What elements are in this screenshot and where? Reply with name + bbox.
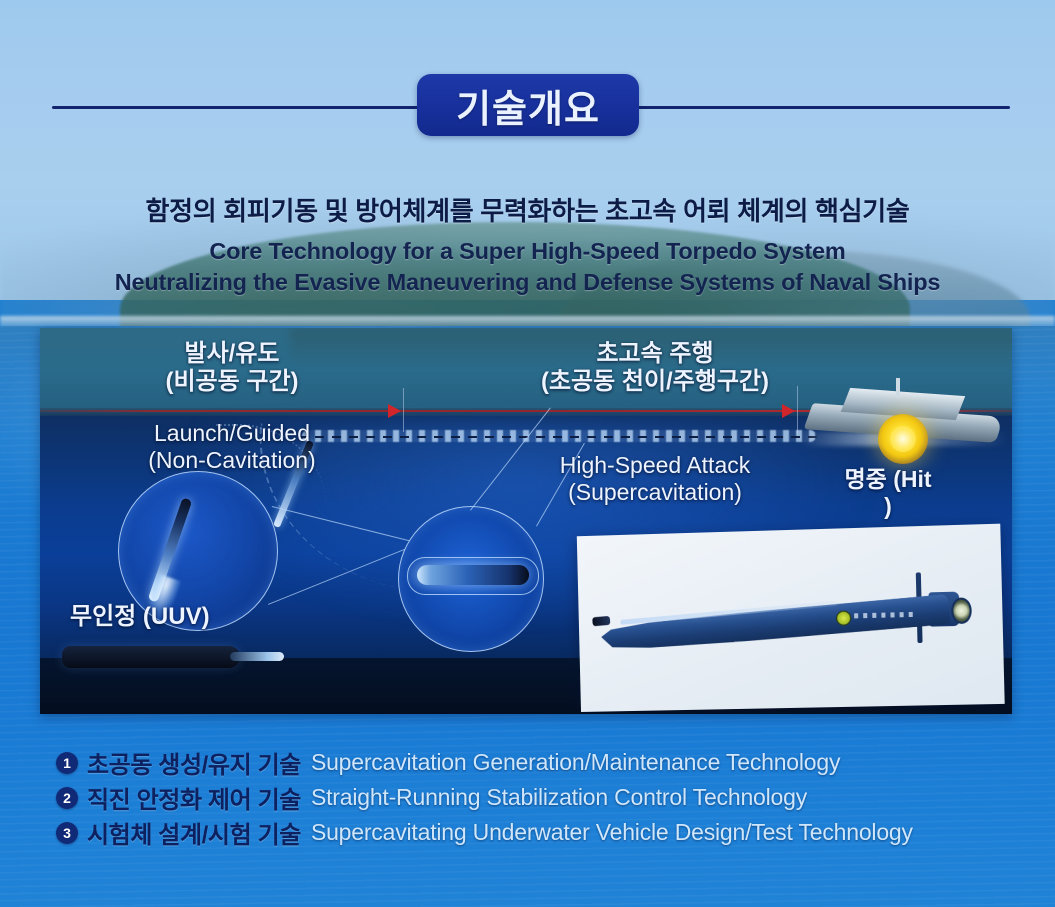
ship-mast: [896, 378, 900, 398]
phase-divider-tick: [403, 388, 404, 432]
uuv-vessel: [62, 646, 240, 668]
list-item-label-ko: 직진 안정화 제어 기술: [87, 780, 301, 815]
torpedo-render-inset: [577, 524, 1005, 712]
label-highspeed-en-line2: (Supercavitation): [500, 479, 810, 506]
list-item-label-ko: 시험체 설계/시험 기술: [87, 815, 301, 850]
label-hit-line1: 명중 (Hit: [838, 466, 938, 493]
label-launch-phase-ko: 발사/유도 (비공동 구간): [108, 340, 356, 396]
label-uuv: 무인정 (UUV): [70, 596, 270, 631]
label-highspeed-phase-ko: 초고속 주행 (초공동 천이/주행구간): [490, 340, 820, 396]
label-launch-ko-line2: (비공동 구간): [108, 368, 356, 396]
subtitle-line-2: Neutralizing the Evasive Maneuvering and…: [0, 269, 1055, 296]
torpedo-cavitator-nose: [592, 616, 610, 626]
trajectory-arrow-icon: [388, 404, 401, 418]
torpedo-propulsor: [951, 597, 972, 624]
run-dashed-path: [298, 436, 818, 438]
label-highspeed-phase-en: High-Speed Attack (Supercavitation): [500, 452, 810, 505]
torpedo-model: [600, 585, 966, 638]
list-item: 3 시험체 설계/시험 기술 Supercavitating Underwate…: [56, 815, 956, 850]
list-item-label-en: Supercavitating Underwater Vehicle Desig…: [311, 819, 913, 846]
subtitle-line-1: Core Technology for a Super High-Speed T…: [0, 238, 1055, 265]
label-launch-phase-en: Launch/Guided (Non-Cavitation): [98, 420, 366, 473]
list-number-badge: 2: [56, 787, 78, 809]
list-number-badge: 3: [56, 822, 78, 844]
label-hit-line2: ): [838, 493, 938, 520]
torpedo-hull: [600, 594, 950, 654]
list-item: 2 직진 안정화 제어 기술 Straight-Running Stabiliz…: [56, 780, 956, 815]
label-hit: 명중 (Hit ): [838, 466, 938, 519]
list-item-label-ko: 초공동 생성/유지 기술: [87, 745, 301, 780]
technology-list: 1 초공동 생성/유지 기술 Supercavitation Generatio…: [56, 745, 956, 850]
list-item-label-en: Straight-Running Stabilization Control T…: [311, 784, 807, 811]
list-number-badge: 1: [56, 752, 78, 774]
explosion-core: [890, 426, 916, 452]
title-badge: 기술개요: [417, 74, 639, 136]
label-launch-ko-line1: 발사/유도: [108, 340, 356, 368]
uuv-launched-torpedo: [230, 652, 284, 661]
list-item-label-en: Supercavitation Generation/Maintenance T…: [311, 749, 840, 776]
callout-supercavitation-magnifier: [398, 506, 544, 652]
list-item: 1 초공동 생성/유지 기술 Supercavitation Generatio…: [56, 745, 956, 780]
trajectory-arrow-icon: [782, 404, 795, 418]
page-headline: 함정의 회피기동 및 방어체계를 무력화하는 초고속 어뢰 체계의 핵심기술: [0, 191, 1055, 228]
title-badge-label: 기술개요: [456, 78, 600, 133]
label-launch-en-line2: (Non-Cavitation): [98, 447, 366, 474]
label-launch-en-line1: Launch/Guided: [98, 420, 366, 447]
label-highspeed-ko-line1: 초고속 주행: [490, 340, 820, 368]
label-highspeed-en-line1: High-Speed Attack: [500, 452, 810, 479]
label-highspeed-ko-line2: (초공동 천이/주행구간): [490, 368, 820, 396]
slide-stage: 기술개요 함정의 회피기동 및 방어체계를 무력화하는 초고속 어뢰 체계의 핵…: [0, 0, 1055, 907]
callout-torpedo-body: [417, 565, 529, 585]
